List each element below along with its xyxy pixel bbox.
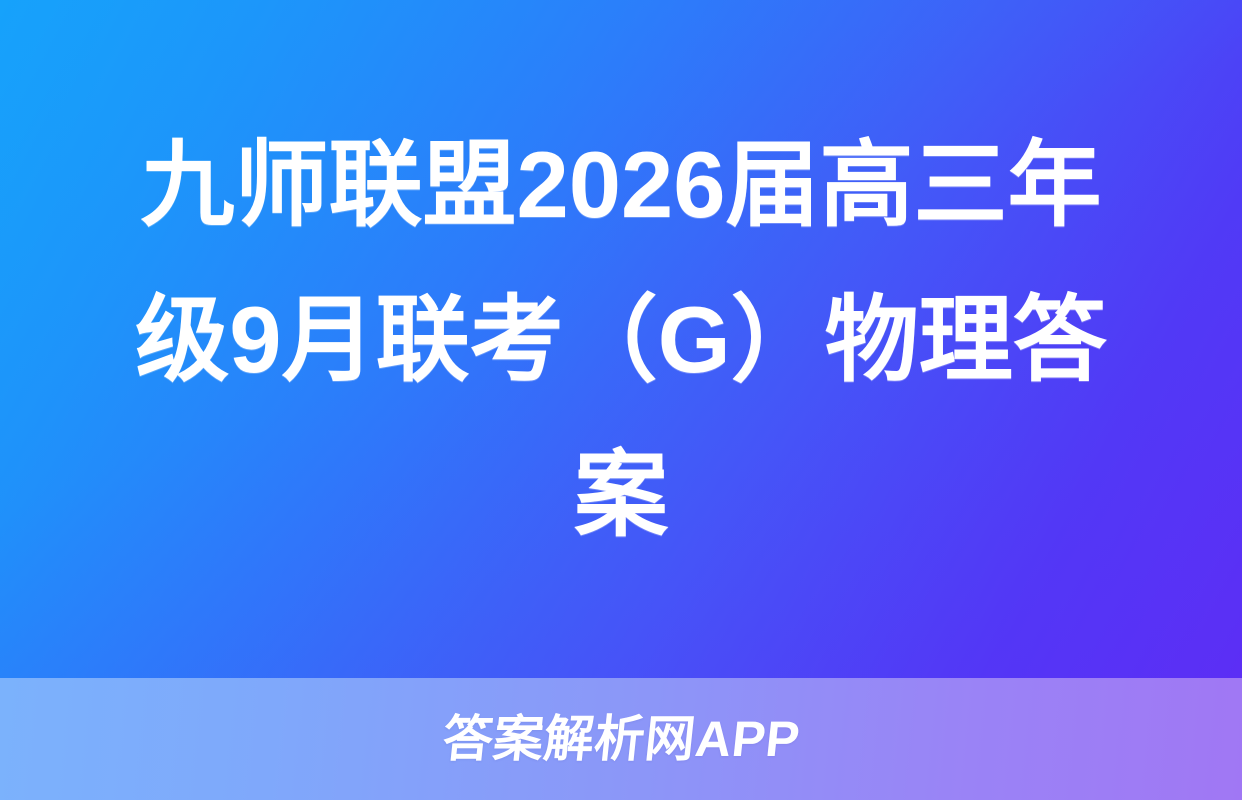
watermark-bar: 答案解析网APP xyxy=(0,678,1242,800)
gradient-banner: 九师联盟2026届高三年 级9月联考（G）物理答 案 xyxy=(0,0,1242,678)
title-line-2: 级9月联考（G）物理答 xyxy=(98,262,1144,417)
banner-screen: 九师联盟2026届高三年 级9月联考（G）物理答 案 答案解析网APP xyxy=(0,0,1242,800)
title-line-3: 案 xyxy=(98,417,1144,572)
title-line-1: 九师联盟2026届高三年 xyxy=(98,107,1144,262)
page-title: 九师联盟2026届高三年 级9月联考（G）物理答 案 xyxy=(98,107,1144,572)
app-watermark-label: 答案解析网APP xyxy=(440,714,802,764)
